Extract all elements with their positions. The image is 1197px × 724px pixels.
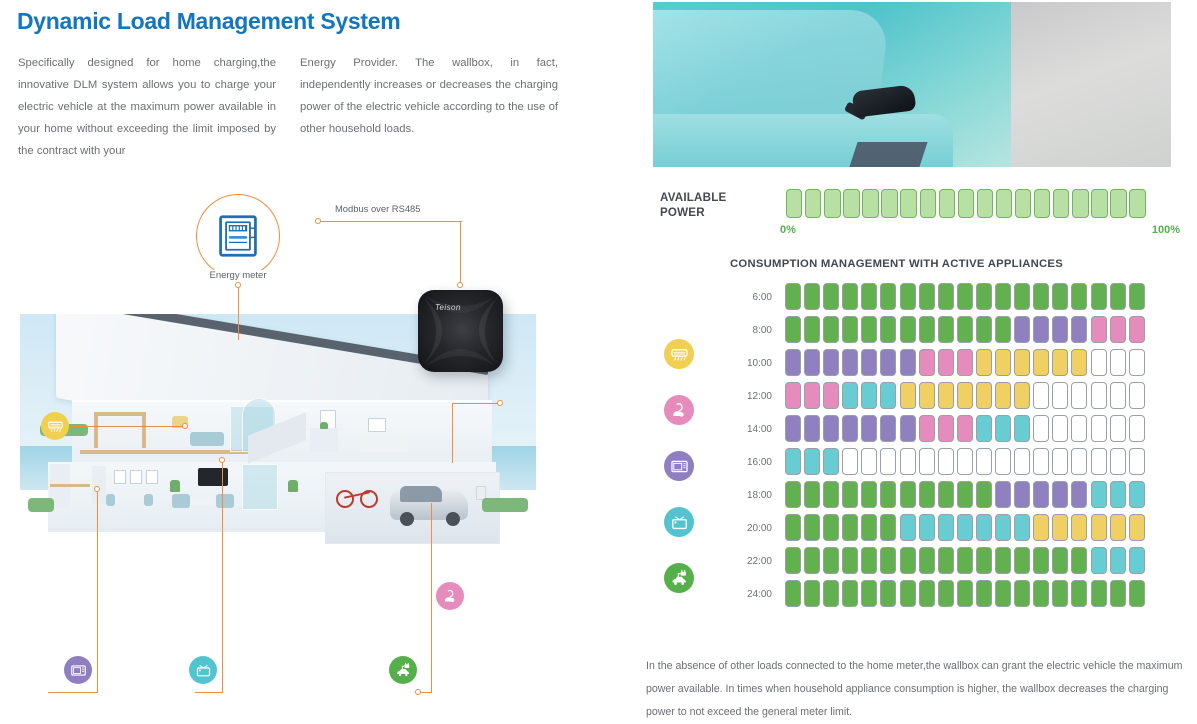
consumption-cell — [1014, 481, 1030, 508]
consumption-row: 6:00 — [640, 283, 1197, 316]
consumption-cell — [995, 481, 1011, 508]
sideboard — [310, 428, 338, 452]
available-power-cell — [1034, 189, 1050, 218]
consumption-row-time: 6:00 — [716, 292, 772, 303]
consumption-cell — [785, 547, 801, 574]
consumption-cell — [804, 382, 820, 409]
consumption-cell — [785, 580, 801, 607]
marker-air-conditioner[interactable] — [41, 412, 69, 440]
consumption-cell — [823, 349, 839, 376]
consumption-cell — [900, 481, 916, 508]
connector-vacuum-vertical — [452, 403, 453, 463]
consumption-cell — [1033, 382, 1049, 409]
consumption-cell — [1071, 580, 1087, 607]
consumption-cell — [1129, 547, 1145, 574]
consumption-cell — [919, 316, 935, 343]
consumption-cell — [1110, 448, 1126, 475]
marker-television[interactable] — [189, 656, 217, 684]
footer-text: In the absence of other loads connected … — [646, 655, 1186, 724]
consumption-cell — [1052, 547, 1068, 574]
consumption-cell — [842, 448, 858, 475]
consumption-row: 18:00 — [640, 481, 1197, 514]
consumption-cell — [1091, 481, 1107, 508]
consumption-cell — [804, 415, 820, 442]
modbus-connection-label: Modbus over RS485 — [335, 203, 420, 214]
consumption-cell — [804, 283, 820, 310]
consumption-cell — [823, 448, 839, 475]
consumption-cell — [1071, 316, 1087, 343]
consumption-cell — [823, 283, 839, 310]
consumption-cell — [1071, 448, 1087, 475]
consumption-cell — [938, 316, 954, 343]
consumption-cell — [1014, 547, 1030, 574]
available-power-cell — [824, 189, 840, 218]
upper-floor-deck — [80, 450, 250, 454]
consumption-cell — [1052, 448, 1068, 475]
connector-vertical-modbus — [460, 221, 461, 285]
connector-ev-vertical — [431, 503, 432, 693]
consumption-cell — [804, 481, 820, 508]
consumption-cell — [861, 382, 877, 409]
side-hedge — [482, 498, 528, 512]
connector-horizontal-modbus — [318, 221, 462, 222]
connector-microwave-vertical — [97, 489, 98, 693]
consumption-cell — [861, 547, 877, 574]
consumption-cell — [1129, 481, 1145, 508]
consumption-cell — [1071, 481, 1087, 508]
dining-table — [112, 490, 146, 497]
consumption-cell — [1091, 547, 1107, 574]
consumption-cell — [938, 349, 954, 376]
consumption-cell — [900, 382, 916, 409]
consumption-cell — [785, 481, 801, 508]
consumption-cell — [1014, 514, 1030, 541]
consumption-cell — [880, 349, 896, 376]
available-power-cell — [786, 189, 802, 218]
master-bed — [360, 436, 408, 452]
consumption-row-time: 8:00 — [716, 325, 772, 336]
consumption-cell — [1014, 349, 1030, 376]
connector-tv-horizontal — [195, 692, 223, 693]
consumption-row: 14:00 — [640, 415, 1197, 448]
consumption-cell — [1129, 580, 1145, 607]
consumption-row-time: 12:00 — [716, 391, 772, 402]
consumption-cell — [804, 580, 820, 607]
consumption-cell — [1052, 349, 1068, 376]
connector-vacuum-horizontal — [452, 403, 500, 404]
consumption-cell — [919, 382, 935, 409]
available-power-cell — [1015, 189, 1031, 218]
consumption-cell — [785, 283, 801, 310]
consumption-cell — [880, 382, 896, 409]
consumption-cell — [1091, 283, 1107, 310]
bunk-bed — [98, 418, 142, 444]
available-power-cell — [996, 189, 1012, 218]
consumption-cell — [976, 514, 992, 541]
consumption-cell — [880, 580, 896, 607]
consumption-cell — [880, 415, 896, 442]
consumption-cell — [1033, 283, 1049, 310]
consumption-cell — [976, 481, 992, 508]
consumption-cell — [976, 580, 992, 607]
consumption-row-cells — [785, 580, 1145, 607]
living-room-tv — [198, 468, 228, 486]
wall-picture-2 — [368, 418, 386, 432]
energy-meter-node[interactable] — [196, 194, 280, 278]
consumption-cell — [785, 349, 801, 376]
consumption-cell — [957, 316, 973, 343]
consumption-cell — [957, 580, 973, 607]
consumption-cell — [976, 349, 992, 376]
connector-dot-ac — [182, 423, 188, 429]
consumption-cell — [919, 580, 935, 607]
available-power-cell — [1110, 189, 1126, 218]
consumption-cell — [1129, 283, 1145, 310]
available-power-cell — [1072, 189, 1088, 218]
consumption-cell — [919, 514, 935, 541]
consumption-row: 16:00 — [640, 448, 1197, 481]
consumption-cell — [1033, 514, 1049, 541]
consumption-cell — [1091, 316, 1107, 343]
consumption-cell — [880, 316, 896, 343]
consumption-cell — [976, 448, 992, 475]
consumption-grid: 6:008:0010:0012:0014:0016:0018:0020:0022… — [640, 283, 1197, 613]
consumption-row: 22:00 — [640, 547, 1197, 580]
consumption-row: 10:00 — [640, 349, 1197, 382]
available-power-max-label: 100% — [1152, 224, 1180, 236]
consumption-cell — [938, 547, 954, 574]
consumption-cell — [842, 580, 858, 607]
connector-dot-tv — [219, 457, 225, 463]
consumption-cell — [1129, 448, 1145, 475]
consumption-cell — [804, 349, 820, 376]
connector-dot-vacuum — [497, 400, 503, 406]
consumption-cell — [1014, 448, 1030, 475]
consumption-cell — [804, 316, 820, 343]
consumption-cell — [1091, 349, 1107, 376]
consumption-cell — [1071, 349, 1087, 376]
consumption-cell — [995, 547, 1011, 574]
consumption-row-time: 10:00 — [716, 358, 772, 369]
consumption-cell — [995, 580, 1011, 607]
consumption-cell — [1014, 382, 1030, 409]
ev-charging-icon — [395, 662, 412, 679]
air-conditioner-icon — [47, 418, 64, 435]
consumption-cell — [919, 481, 935, 508]
system-diagram: Energy meter Modbus over RS485 Teison — [0, 175, 625, 715]
consumption-cell — [957, 514, 973, 541]
consumption-cell — [823, 382, 839, 409]
consumption-cell — [1129, 514, 1145, 541]
consumption-cell — [880, 547, 896, 574]
potted-plant-living — [170, 480, 180, 492]
consumption-cell — [1071, 283, 1087, 310]
consumption-cell — [1110, 349, 1126, 376]
consumption-cell — [842, 547, 858, 574]
consumption-cell — [842, 415, 858, 442]
consumption-cell — [976, 382, 992, 409]
consumption-cell — [880, 514, 896, 541]
photo-wall-panel: Teison — [1011, 2, 1171, 167]
consumption-cell — [995, 415, 1011, 442]
consumption-row-cells — [785, 481, 1145, 508]
consumption-cell — [842, 316, 858, 343]
consumption-cell — [842, 382, 858, 409]
consumption-cell — [1129, 316, 1145, 343]
consumption-cell — [957, 415, 973, 442]
consumption-cell — [1052, 283, 1068, 310]
consumption-cell — [1071, 382, 1087, 409]
consumption-cell — [976, 283, 992, 310]
consumption-cell — [976, 547, 992, 574]
consumption-cell — [957, 481, 973, 508]
consumption-cell — [995, 283, 1011, 310]
television-icon — [195, 662, 212, 679]
car-wheel-front — [400, 512, 414, 526]
consumption-cell — [880, 283, 896, 310]
consumption-cell — [785, 448, 801, 475]
consumption-cell — [861, 415, 877, 442]
consumption-cell — [1110, 283, 1126, 310]
consumption-title: CONSUMPTION MANAGEMENT WITH ACTIVE APPLI… — [730, 258, 1063, 270]
consumption-cell — [1091, 580, 1107, 607]
consumption-cell — [1033, 547, 1049, 574]
consumption-cell — [957, 547, 973, 574]
consumption-row: 20:00 — [640, 514, 1197, 547]
consumption-cell — [1052, 481, 1068, 508]
consumption-cell — [1091, 415, 1107, 442]
consumption-row-cells — [785, 349, 1145, 376]
dining-chair-1 — [106, 494, 115, 506]
consumption-row-time: 16:00 — [716, 457, 772, 468]
microwave-icon — [70, 662, 87, 679]
consumption-cell — [900, 547, 916, 574]
connector-meter-to-house — [238, 285, 239, 340]
available-power-cell — [1053, 189, 1069, 218]
consumption-cell — [1014, 580, 1030, 607]
consumption-row-cells — [785, 316, 1145, 343]
connector-ac-horizontal — [55, 426, 185, 427]
consumption-cell — [1014, 316, 1030, 343]
coffee-table — [192, 498, 214, 505]
intro-paragraphs: Specifically designed for home charging,… — [18, 52, 558, 162]
dining-chair-2 — [144, 494, 153, 506]
consumption-row-cells — [785, 514, 1145, 541]
consumption-cell — [785, 415, 801, 442]
available-power-cell — [958, 189, 974, 218]
car-window — [400, 486, 442, 502]
consumption-cell — [823, 316, 839, 343]
consumption-cell — [957, 283, 973, 310]
consumption-cell — [1129, 349, 1145, 376]
consumption-cell — [1129, 415, 1145, 442]
consumption-cell — [900, 349, 916, 376]
consumption-cell — [1091, 448, 1107, 475]
consumption-cell — [938, 283, 954, 310]
consumption-cell — [900, 448, 916, 475]
consumption-cell — [1033, 316, 1049, 343]
hero-photo: Teison — [653, 2, 1171, 167]
available-power-label-line2: POWER — [660, 205, 726, 220]
consumption-cell — [900, 514, 916, 541]
consumption-cell — [1071, 415, 1087, 442]
consumption-row: 8:00 — [640, 316, 1197, 349]
consumption-cell — [804, 448, 820, 475]
consumption-cell — [785, 316, 801, 343]
consumption-cell — [995, 316, 1011, 343]
upper-sofa — [190, 432, 224, 446]
available-power-cell — [862, 189, 878, 218]
intro-column-right: Energy Provider. The wallbox, in fact, i… — [300, 52, 558, 162]
consumption-row-cells — [785, 382, 1145, 409]
kitchen-counter — [50, 484, 90, 487]
intro-text-right: Energy Provider. The wallbox, in fact, i… — [300, 52, 558, 140]
consumption-cell — [1014, 283, 1030, 310]
available-power-cell — [805, 189, 821, 218]
consumption-cell — [1091, 514, 1107, 541]
intro-column-left: Specifically designed for home charging,… — [18, 52, 276, 162]
available-power-label: AVAILABLE POWER — [660, 190, 726, 220]
available-power-cell — [843, 189, 859, 218]
front-hedge — [28, 498, 54, 512]
consumption-cell — [1033, 580, 1049, 607]
consumption-row: 12:00 — [640, 382, 1197, 415]
consumption-cell — [1033, 415, 1049, 442]
marker-vacuum-cleaner[interactable] — [436, 582, 464, 610]
consumption-cell — [1110, 547, 1126, 574]
consumption-cell — [1033, 448, 1049, 475]
consumption-row: 24:00 — [640, 580, 1197, 613]
page-title: Dynamic Load Management System — [17, 8, 400, 35]
consumption-cell — [919, 415, 935, 442]
connector-dot-microwave — [94, 486, 100, 492]
consumption-cell — [938, 448, 954, 475]
photo-car-panel — [653, 2, 1011, 167]
consumption-row-cells — [785, 415, 1145, 442]
consumption-row-time: 14:00 — [716, 424, 772, 435]
available-power-cell — [1091, 189, 1107, 218]
consumption-cell — [1033, 349, 1049, 376]
available-power-cell — [900, 189, 916, 218]
available-power-min-label: 0% — [780, 224, 796, 236]
consumption-cell — [995, 448, 1011, 475]
consumption-cell — [938, 415, 954, 442]
left-column: Dynamic Load Management System Specifica… — [0, 0, 625, 724]
consumption-row-time: 20:00 — [716, 523, 772, 534]
consumption-cell — [842, 283, 858, 310]
consumption-cell — [1052, 580, 1068, 607]
available-power-cell — [939, 189, 955, 218]
available-power-cell — [881, 189, 897, 218]
consumption-cell — [957, 382, 973, 409]
consumption-cell — [900, 283, 916, 310]
consumption-cell — [995, 382, 1011, 409]
consumption-cell — [842, 514, 858, 541]
consumption-cell — [995, 514, 1011, 541]
consumption-row-time: 18:00 — [716, 490, 772, 501]
consumption-cell — [861, 580, 877, 607]
connector-dot-ev — [415, 689, 421, 695]
consumption-row-cells — [785, 448, 1145, 475]
consumption-cell — [823, 415, 839, 442]
consumption-cell — [1110, 415, 1126, 442]
bunk-frame-right — [142, 412, 146, 448]
available-power-label-line1: AVAILABLE — [660, 190, 726, 205]
consumption-cell — [1110, 514, 1126, 541]
consumption-cell — [995, 349, 1011, 376]
dining-picture-1 — [114, 470, 126, 484]
consumption-cell — [823, 547, 839, 574]
consumption-cell — [1052, 415, 1068, 442]
consumption-cell — [919, 283, 935, 310]
kitchen-door — [92, 466, 106, 504]
consumption-cell — [976, 415, 992, 442]
consumption-cell — [919, 547, 935, 574]
consumption-cell — [823, 514, 839, 541]
consumption-cell — [1071, 514, 1087, 541]
consumption-cell — [823, 481, 839, 508]
consumption-cell — [785, 382, 801, 409]
consumption-cell — [861, 316, 877, 343]
bunk-frame-top — [94, 412, 146, 416]
consumption-cell — [900, 415, 916, 442]
marker-ev-charging[interactable] — [389, 656, 417, 684]
consumption-cell — [1091, 382, 1107, 409]
available-power-bar — [786, 189, 1146, 218]
consumption-cell — [823, 580, 839, 607]
consumption-cell — [1052, 382, 1068, 409]
consumption-row-cells — [785, 547, 1145, 574]
consumption-cell — [1052, 316, 1068, 343]
consumption-cell — [938, 481, 954, 508]
consumption-cell — [1110, 580, 1126, 607]
connector-dot-wallbox — [457, 282, 463, 288]
bicycle-wheel-left — [336, 490, 354, 508]
consumption-cell — [957, 448, 973, 475]
consumption-cell — [900, 316, 916, 343]
bunk-frame-left — [94, 412, 98, 448]
available-power-cell — [920, 189, 936, 218]
consumption-cell — [842, 481, 858, 508]
consumption-cell — [938, 580, 954, 607]
armchair-right — [216, 494, 234, 508]
consumption-row-time: 24:00 — [716, 589, 772, 600]
potted-plant-upper — [320, 422, 328, 429]
right-column: Teison AVAILABLE POWER 0% 100% CONSUMPTI… — [640, 0, 1197, 724]
wallbox-device: Teison — [418, 290, 503, 372]
vacuum-cleaner-icon — [442, 588, 459, 605]
consumption-cell — [804, 514, 820, 541]
connector-dot-meter — [315, 218, 321, 224]
consumption-cell — [1110, 316, 1126, 343]
consumption-cell — [976, 316, 992, 343]
marker-microwave[interactable] — [64, 656, 92, 684]
photo-foreground-shape — [848, 142, 927, 167]
consumption-cell — [1033, 481, 1049, 508]
consumption-cell — [804, 547, 820, 574]
connector-tv-vertical — [222, 460, 223, 693]
connector-microwave-horizontal — [48, 692, 98, 693]
consumption-cell — [842, 349, 858, 376]
consumption-cell — [861, 349, 877, 376]
consumption-cell — [1110, 382, 1126, 409]
consumption-row-cells — [785, 283, 1145, 310]
available-power-cell — [977, 189, 993, 218]
intro-text-left: Specifically designed for home charging,… — [18, 52, 276, 162]
consumption-cell — [880, 448, 896, 475]
consumption-cell — [785, 514, 801, 541]
consumption-cell — [1110, 481, 1126, 508]
